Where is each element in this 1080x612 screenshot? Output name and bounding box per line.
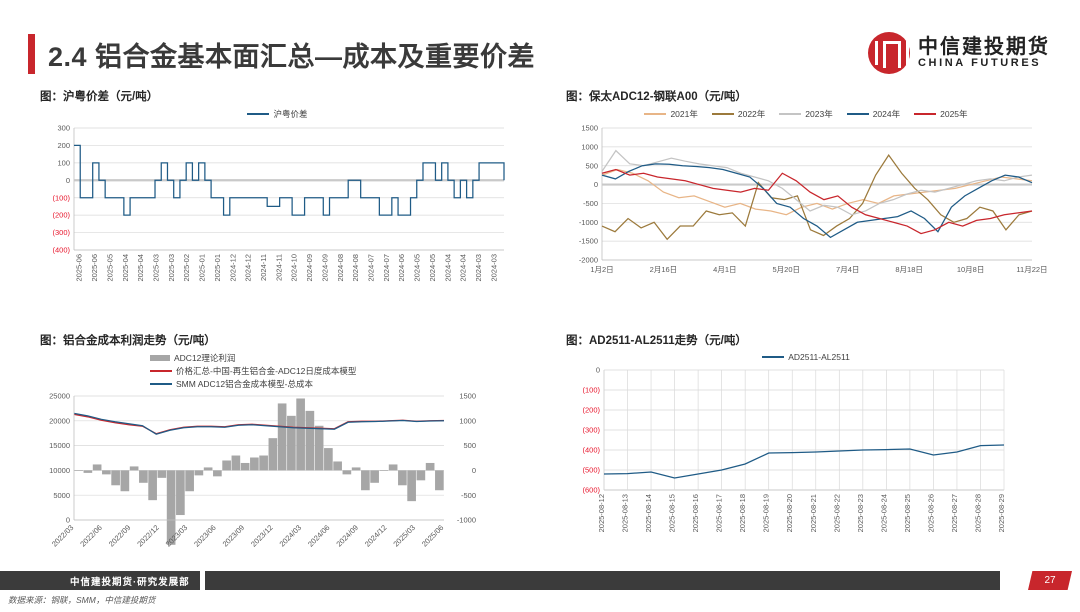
- svg-text:1月2日: 1月2日: [590, 265, 613, 274]
- svg-text:0: 0: [66, 176, 70, 185]
- svg-text:10月8日: 10月8日: [957, 265, 985, 274]
- legend-swatch-2025: [914, 113, 936, 115]
- svg-text:2025-04: 2025-04: [121, 254, 130, 282]
- svg-text:2025-08-28: 2025-08-28: [973, 494, 982, 532]
- svg-text:2024-05: 2024-05: [428, 254, 437, 282]
- legend-label-price-model: 价格汇总-中国-再生铝合金-ADC12日度成本模型: [176, 365, 356, 377]
- svg-text:2024-12: 2024-12: [244, 254, 253, 282]
- legend-br: AD2511-AL2511: [556, 352, 1056, 362]
- chart-svg-tr: 150010005000-500-1000-1500-20001月2日2月16日…: [556, 120, 1056, 325]
- svg-text:2024-09: 2024-09: [305, 254, 314, 282]
- legend-item-2024: 2024年: [847, 108, 900, 120]
- svg-text:2025-08-22: 2025-08-22: [832, 494, 841, 532]
- svg-text:11月22日: 11月22日: [1016, 265, 1047, 274]
- svg-text:200: 200: [57, 141, 70, 150]
- svg-text:2025-01: 2025-01: [213, 254, 222, 282]
- svg-text:(400): (400): [52, 246, 70, 255]
- svg-text:2024-07: 2024-07: [366, 254, 375, 282]
- svg-text:-2000: -2000: [579, 256, 598, 265]
- svg-text:2024/06: 2024/06: [306, 523, 332, 549]
- footer-left-block: [0, 571, 60, 590]
- svg-text:2024-08: 2024-08: [351, 254, 360, 282]
- svg-text:2025-08-26: 2025-08-26: [926, 494, 935, 532]
- svg-text:100: 100: [57, 158, 70, 167]
- svg-text:2025-08-14: 2025-08-14: [644, 494, 653, 532]
- chart-panel-cost-profit: 图：铝合金成本利润走势（元/吨） ADC12理论利润 价格汇总-中国-再生铝合金…: [30, 332, 525, 572]
- svg-text:2024-04: 2024-04: [443, 254, 452, 282]
- legend-tl: 沪粤价差: [30, 108, 525, 120]
- svg-text:2025/03: 2025/03: [391, 523, 417, 549]
- logo-name-cn: 中信建投期货: [918, 37, 1050, 58]
- svg-text:-1500: -1500: [579, 237, 598, 246]
- svg-text:2022/06: 2022/06: [78, 523, 104, 549]
- svg-text:2025-08-25: 2025-08-25: [903, 494, 912, 532]
- svg-text:2024-03: 2024-03: [474, 254, 483, 282]
- logo-name-en: CHINA FUTURES: [918, 58, 1050, 70]
- svg-text:2025-08-23: 2025-08-23: [856, 494, 865, 532]
- svg-text:-500: -500: [583, 199, 598, 208]
- svg-text:2024-09: 2024-09: [320, 254, 329, 282]
- svg-text:2023/12: 2023/12: [249, 523, 275, 549]
- legend-swatch-blue: [150, 383, 172, 385]
- svg-text:2024-06: 2024-06: [397, 254, 406, 282]
- source-note: 数据来源：钢联，SMM，中信建投期货: [8, 594, 155, 606]
- svg-text:2024/03: 2024/03: [278, 523, 304, 549]
- legend-swatch-ad2511: [762, 356, 784, 358]
- legend-item-price-model: 价格汇总-中国-再生铝合金-ADC12日度成本模型: [150, 365, 356, 377]
- svg-text:0: 0: [594, 180, 598, 189]
- svg-text:(300): (300): [582, 426, 600, 435]
- legend-tr: 2021年 2022年 2023年 2024年 2025年: [556, 108, 1056, 120]
- legend-label-profit: ADC12理论利润: [174, 352, 235, 364]
- svg-text:2022/12: 2022/12: [135, 523, 161, 549]
- chart-panel-adc12-a00: 图：保太ADC12-钢联A00（元/吨） 2021年 2022年 2023年 2…: [556, 88, 1056, 328]
- legend-swatch-line: [247, 113, 269, 115]
- chart-panel-ad2511-al2511: 图：AD2511-AL2511走势（元/吨） AD2511-AL2511 0(1…: [556, 332, 1056, 572]
- svg-text:2025-08-12: 2025-08-12: [597, 494, 606, 532]
- svg-text:8月18日: 8月18日: [895, 265, 923, 274]
- svg-text:15000: 15000: [49, 441, 70, 450]
- svg-text:2025-08-17: 2025-08-17: [715, 494, 724, 532]
- svg-text:2024-03: 2024-03: [489, 254, 498, 282]
- svg-text:2024-11: 2024-11: [274, 254, 283, 281]
- footer-bar: 中信建投期货·研究发展部 27: [0, 571, 1080, 590]
- svg-text:-1000: -1000: [579, 218, 598, 227]
- svg-text:2025-08-13: 2025-08-13: [621, 494, 630, 532]
- chart-caption-br: 图：AD2511-AL2511走势（元/吨）: [566, 332, 1056, 348]
- title-text: 2.4 铝合金基本面汇总—成本及重要价差: [48, 35, 535, 74]
- svg-text:2022/09: 2022/09: [107, 523, 133, 549]
- slide: 2.4 铝合金基本面汇总—成本及重要价差 中信建投期货 CHINA FUTURE…: [0, 0, 1080, 608]
- svg-text:2024/12: 2024/12: [363, 523, 389, 549]
- svg-text:(200): (200): [52, 211, 70, 220]
- page-number: 27: [1028, 571, 1072, 590]
- svg-text:7月4日: 7月4日: [836, 265, 859, 274]
- svg-text:2025-02: 2025-02: [182, 254, 191, 282]
- svg-text:-1000: -1000: [457, 516, 476, 525]
- legend-item-smm-cost: SMM ADC12铝合金成本模型-总成本: [150, 378, 313, 390]
- svg-text:2025-03: 2025-03: [151, 254, 160, 282]
- page-title: 2.4 铝合金基本面汇总—成本及重要价差: [28, 34, 535, 74]
- svg-text:0: 0: [596, 366, 600, 375]
- svg-text:(200): (200): [582, 406, 600, 415]
- legend-swatch-2022: [712, 113, 734, 115]
- chart-caption-bl: 图：铝合金成本利润走势（元/吨）: [40, 332, 525, 348]
- svg-text:2024-05: 2024-05: [413, 254, 422, 282]
- svg-text:(500): (500): [582, 466, 600, 475]
- legend-label-2022: 2022年: [738, 108, 765, 120]
- svg-text:2025-05: 2025-05: [105, 254, 114, 282]
- legend-label-2025: 2025年: [940, 108, 967, 120]
- chart-caption-tl: 图：沪粤价差（元/吨）: [40, 88, 525, 104]
- legend-swatch-2021: [644, 113, 666, 115]
- legend-label-smm: SMM ADC12铝合金成本模型-总成本: [176, 378, 313, 390]
- svg-text:2月16日: 2月16日: [650, 265, 678, 274]
- legend-swatch-2023: [779, 113, 801, 115]
- legend-swatch-2024: [847, 113, 869, 115]
- legend-item-ad2511: AD2511-AL2511: [762, 352, 850, 362]
- svg-text:5000: 5000: [53, 491, 70, 500]
- legend-item-2025: 2025年: [914, 108, 967, 120]
- legend-item-hu-yue: 沪粤价差: [247, 108, 307, 120]
- svg-text:(400): (400): [582, 446, 600, 455]
- svg-text:20000: 20000: [49, 416, 70, 425]
- legend-item-2023: 2023年: [779, 108, 832, 120]
- svg-text:2025-06: 2025-06: [75, 254, 84, 282]
- legend-label: 沪粤价差: [273, 108, 307, 120]
- legend-bl: ADC12理论利润 价格汇总-中国-再生铝合金-ADC12日度成本模型 SMM …: [30, 352, 525, 390]
- svg-text:2024-07: 2024-07: [382, 254, 391, 282]
- svg-text:2024-08: 2024-08: [336, 254, 345, 282]
- chart-svg-tl: 3002001000(100)(200)(300)(400)2025-06202…: [30, 120, 525, 325]
- svg-text:2024-10: 2024-10: [290, 254, 299, 282]
- title-accent-bar: [28, 34, 35, 74]
- footer-org: 中信建投期货·研究发展部: [60, 571, 200, 590]
- svg-text:2024-12: 2024-12: [228, 254, 237, 282]
- legend-swatch-red: [150, 370, 172, 372]
- citic-logo-icon: [868, 32, 910, 74]
- legend-label-2021: 2021年: [670, 108, 697, 120]
- svg-text:4月1日: 4月1日: [713, 265, 736, 274]
- svg-text:2023/09: 2023/09: [221, 523, 247, 549]
- svg-text:2024-04: 2024-04: [459, 254, 468, 282]
- legend-item-2022: 2022年: [712, 108, 765, 120]
- svg-text:0: 0: [472, 466, 476, 475]
- chart-caption-tr: 图：保太ADC12-钢联A00（元/吨）: [566, 88, 1056, 104]
- legend-label-2023: 2023年: [805, 108, 832, 120]
- svg-text:1000: 1000: [581, 142, 598, 151]
- svg-text:25000: 25000: [49, 392, 70, 401]
- svg-text:2025-08-15: 2025-08-15: [668, 494, 677, 532]
- legend-label-ad2511: AD2511-AL2511: [788, 352, 850, 362]
- svg-text:2025/06: 2025/06: [420, 523, 446, 549]
- svg-text:2025-04: 2025-04: [136, 254, 145, 282]
- svg-text:2025-08-18: 2025-08-18: [738, 494, 747, 532]
- svg-text:(100): (100): [52, 193, 70, 202]
- svg-text:5月20日: 5月20日: [773, 265, 801, 274]
- svg-text:10000: 10000: [49, 466, 70, 475]
- svg-text:2025-08-24: 2025-08-24: [879, 494, 888, 532]
- svg-text:(600): (600): [582, 486, 600, 495]
- footer-rule: [205, 571, 1000, 590]
- svg-text:-500: -500: [461, 491, 476, 500]
- company-logo: 中信建投期货 CHINA FUTURES: [868, 32, 1050, 74]
- chart-panel-hu-yue-spread: 图：沪粤价差（元/吨） 沪粤价差 3002001000(100)(200)(30…: [30, 88, 525, 328]
- svg-text:2025-08-16: 2025-08-16: [691, 494, 700, 532]
- svg-text:2025-08-21: 2025-08-21: [809, 494, 818, 532]
- svg-text:1500: 1500: [459, 392, 476, 401]
- svg-text:2025-08-19: 2025-08-19: [762, 494, 771, 532]
- svg-text:(100): (100): [582, 386, 600, 395]
- svg-text:1500: 1500: [581, 124, 598, 133]
- legend-label-2024: 2024年: [873, 108, 900, 120]
- svg-text:2025-08-20: 2025-08-20: [785, 494, 794, 532]
- svg-text:2022/03: 2022/03: [50, 523, 76, 549]
- chart-svg-bl: 2500020000150001000050000150010005000-50…: [30, 390, 525, 575]
- svg-text:2023/06: 2023/06: [192, 523, 218, 549]
- svg-text:2024-11: 2024-11: [259, 254, 268, 281]
- svg-text:2025-03: 2025-03: [167, 254, 176, 282]
- svg-text:2025-08-29: 2025-08-29: [997, 494, 1006, 532]
- legend-item-theoretical-profit: ADC12理论利润: [150, 352, 235, 364]
- svg-text:500: 500: [463, 441, 476, 450]
- svg-text:2025-06: 2025-06: [90, 254, 99, 282]
- svg-text:500: 500: [585, 161, 598, 170]
- svg-text:2024/09: 2024/09: [334, 523, 360, 549]
- svg-text:2025-01: 2025-01: [198, 254, 207, 282]
- svg-text:1000: 1000: [459, 416, 476, 425]
- chart-svg-br: 0(100)(200)(300)(400)(500)(600)2025-08-1…: [556, 362, 1056, 567]
- legend-swatch-bar: [150, 355, 170, 361]
- legend-item-2021: 2021年: [644, 108, 697, 120]
- svg-text:300: 300: [57, 124, 70, 133]
- svg-text:2025-08-27: 2025-08-27: [950, 494, 959, 532]
- svg-text:(300): (300): [52, 228, 70, 237]
